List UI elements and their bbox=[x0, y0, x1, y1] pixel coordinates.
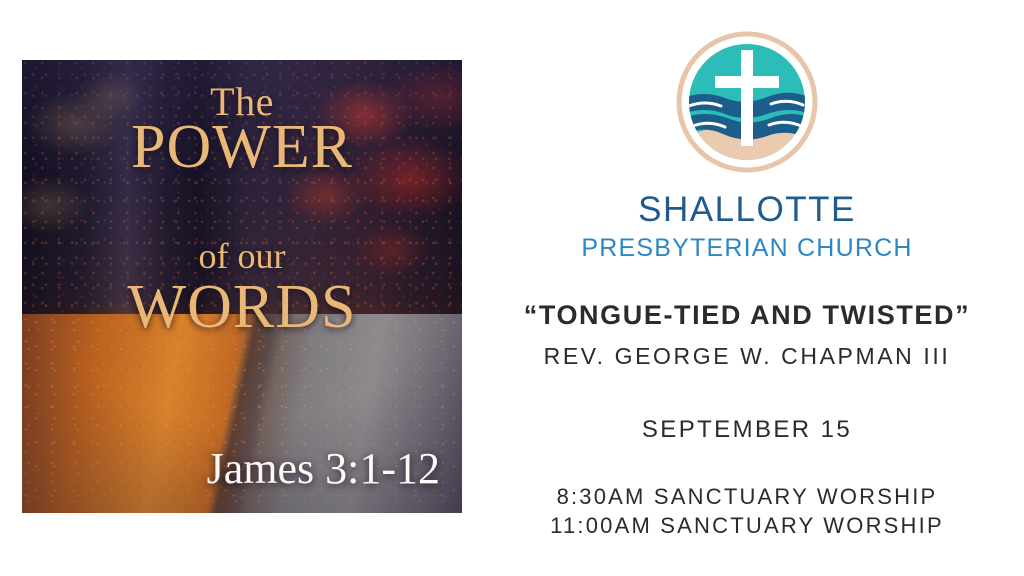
service-times-list: 8:30AM SANCTUARY WORSHIP 11:00AM SANCTUA… bbox=[470, 482, 1024, 540]
artwork-scripture-reference: James 3:1-12 bbox=[207, 447, 440, 491]
church-info-pane: SHALLOTTE PRESBYTERIAN CHURCH “TONGUE-TI… bbox=[470, 0, 1024, 576]
logo-cross-horizontal bbox=[715, 76, 779, 88]
artwork-line-of-our: of our bbox=[22, 238, 462, 274]
service-time-item: 11:00AM SANCTUARY WORSHIP bbox=[470, 511, 1024, 540]
church-logo bbox=[671, 28, 823, 180]
church-name: SHALLOTTE bbox=[470, 192, 1024, 227]
cross-waves-logo-icon bbox=[671, 28, 823, 180]
church-denomination: PRESBYTERIAN CHURCH bbox=[470, 236, 1024, 261]
worship-announcement-slide: The POWER of our WORDS James 3:1-12 bbox=[0, 0, 1024, 576]
service-time-item: 8:30AM SANCTUARY WORSHIP bbox=[470, 482, 1024, 511]
artwork-line-words: WORDS bbox=[22, 276, 462, 338]
sermon-preacher: REV. GEORGE W. CHAPMAN III bbox=[470, 345, 1024, 368]
artwork-text-block: The POWER of our WORDS James 3:1-12 bbox=[22, 60, 462, 513]
logo-cross-vertical bbox=[741, 50, 753, 146]
artwork-line-power: POWER bbox=[22, 116, 462, 178]
sermon-series-artwork: The POWER of our WORDS James 3:1-12 bbox=[22, 60, 462, 513]
sermon-title: “TONGUE-TIED AND TWISTED” bbox=[470, 302, 1024, 329]
sermon-date: SEPTEMBER 15 bbox=[470, 418, 1024, 442]
